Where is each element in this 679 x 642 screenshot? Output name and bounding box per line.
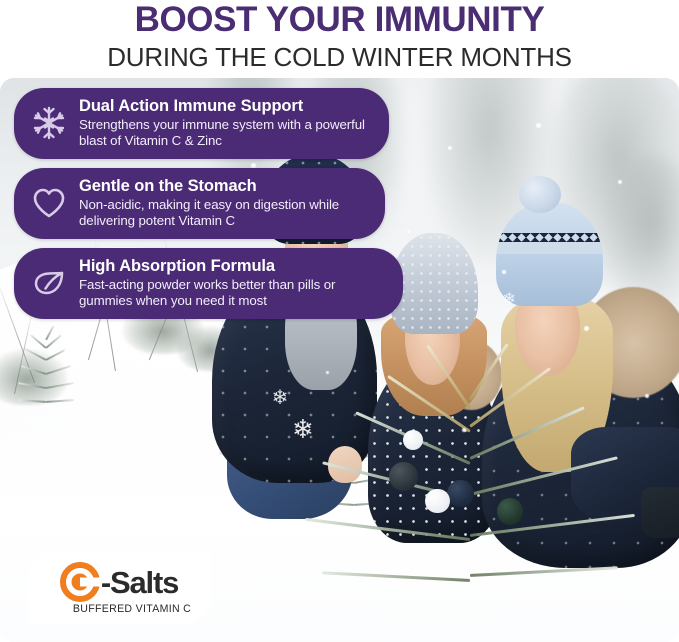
leaf-icon [27,261,71,305]
decorative-snowflake: ❄ [129,399,140,412]
feature-card-title: Gentle on the Stomach [79,177,367,196]
tree-ornament [447,480,474,507]
decorative-snowflake: ❄ [584,574,599,592]
feature-card-text: Gentle on the Stomach Non-acidic, making… [79,177,367,229]
feature-card-text: Dual Action Immune Support Strengthens y… [79,97,371,149]
feature-card-description: Non-acidic, making it easy on digestion … [79,197,367,229]
snowflake-icon [27,101,71,145]
decorated-pine-tree [367,394,591,620]
falling-snow [448,146,452,150]
feature-card-description: Fast-acting powder works better than pil… [79,277,385,309]
falling-snow [109,473,113,477]
feature-card-title: High Absorption Formula [79,257,385,276]
brand-logo-panel: -Salts BUFFERED VITAMIN C [28,551,210,625]
c-circle-mark-icon [60,562,100,602]
immunity-infographic: ❄ ❄ ❄ ❄ ❄ ❄ ❄ ❄ Boost Your Immunity Duri… [0,0,679,642]
tree-ornament [403,430,423,450]
feature-card-dual-action-immune-support[interactable]: Dual Action Immune Support Strengthens y… [14,88,389,159]
decorative-snowflake: ❄ [272,388,289,408]
falling-snow [645,394,649,398]
mother-knit-hat [496,202,603,305]
tree-ornament [497,498,524,525]
logo-tagline: BUFFERED VITAMIN C [47,603,191,615]
feature-card-list: Dual Action Immune Support Strengthens y… [14,88,389,328]
decorative-snowflake: ❄ [292,416,314,442]
falling-snow [618,180,622,184]
page-title: Boost Your Immunity [0,0,679,38]
page-subtitle: During the Cold Winter Months [0,38,679,71]
hat-fairisle-band [496,233,603,254]
heart-icon [27,181,71,225]
logo-row: -Salts [60,562,178,602]
hat-body [496,202,603,305]
feature-card-high-absorption-formula[interactable]: High Absorption Formula Fast-acting powd… [14,248,403,319]
decorative-snowflake: ❄ [61,343,79,365]
tree-ornament [425,489,450,514]
feature-card-text: High Absorption Formula Fast-acting powd… [79,257,385,309]
decorative-snowflake: ❄ [502,292,515,308]
tree-ornament [389,462,418,491]
falling-snow [462,428,466,432]
feature-card-gentle-on-the-stomach[interactable]: Gentle on the Stomach Non-acidic, making… [14,168,385,239]
logo-wordmark: -Salts [101,567,178,598]
feature-card-title: Dual Action Immune Support [79,97,371,116]
mother-boot [641,487,679,539]
header: Boost Your Immunity During the Cold Wint… [0,0,679,78]
feature-card-description: Strengthens your immune system with a po… [79,117,371,149]
